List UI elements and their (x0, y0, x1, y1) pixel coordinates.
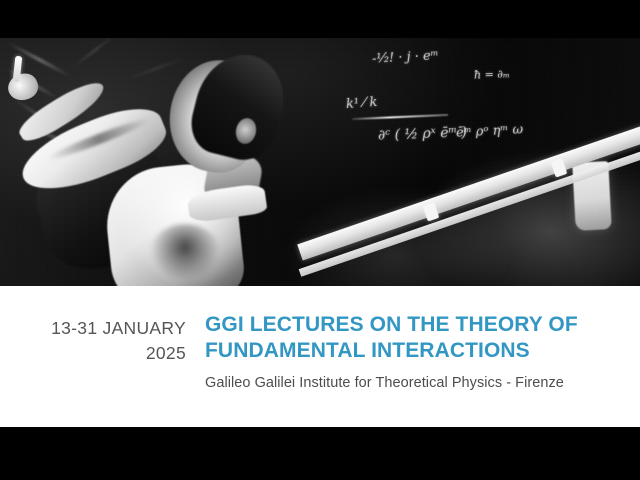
chalk-equation: k¹ ⁄ k (346, 95, 378, 112)
chalk-equation: ħ = ∂ₘ (474, 67, 510, 81)
lecturer-torso-shadow (150, 224, 220, 282)
caption-band: 13-31 JANUARY 2025 GGI LECTURES ON THE T… (0, 286, 640, 427)
event-subtitle: Galileo Galilei Institute for Theoretica… (205, 374, 625, 392)
letterbox-bottom (0, 427, 640, 480)
event-date-line-1: 13-31 JANUARY (0, 316, 186, 341)
event-title-line-1: GGI LECTURES ON THE THEORY OF (205, 313, 578, 336)
title-block: GGI LECTURES ON THE THEORY OF FUNDAMENTA… (205, 312, 625, 392)
event-dates: 13-31 JANUARY 2025 (0, 316, 186, 366)
chalk-equation: ∂ᶜ ( ½ ρˣ ēᵐ ) (378, 124, 468, 143)
letterbox-top (0, 0, 640, 38)
event-date-line-2: 2025 (0, 341, 186, 366)
event-title-line-2: FUNDAMENTAL INTERACTIONS (205, 339, 530, 362)
lecture-photograph: -¹⁄₂! · j · eᵐ ħ = ∂ₘ k¹ ⁄ k ∂ᶜ ( ½ ρˣ ē… (0, 38, 640, 286)
poster-image: -¹⁄₂! · j · eᵐ ħ = ∂ₘ k¹ ⁄ k ∂ᶜ ( ½ ρˣ ē… (0, 0, 640, 480)
event-title: GGI LECTURES ON THE THEORY OF FUNDAMENTA… (205, 312, 625, 364)
